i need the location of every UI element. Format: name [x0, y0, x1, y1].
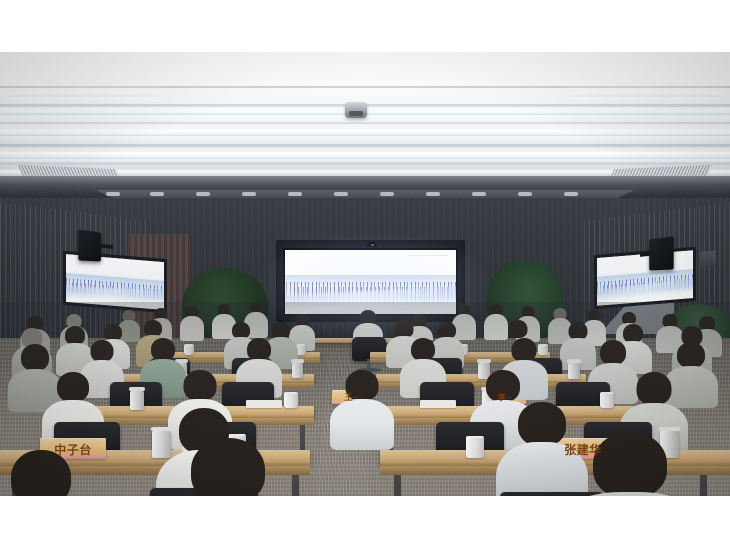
fluorescent-light-tube: [570, 92, 720, 97]
ceiling-downlight: [242, 192, 256, 196]
handout-paper: [420, 400, 456, 408]
conference-camera-icon: [367, 242, 377, 247]
thermos-mug: [568, 362, 580, 379]
ceiling-downlight: [106, 192, 120, 196]
thermos-lid: [129, 387, 145, 391]
thermos-lid: [659, 427, 680, 431]
fluorescent-light-tube: [0, 152, 730, 159]
table-leg: [300, 425, 305, 453]
nameplate-text: 中子台: [54, 441, 92, 458]
cityscape-image: [597, 250, 693, 306]
tea-cup: [600, 392, 614, 408]
conference-room-photo: 王·· 李··: [0, 52, 730, 496]
nameplate-text: 李··: [498, 392, 513, 403]
ceiling-downlight: [150, 192, 164, 196]
person-head: [593, 432, 667, 496]
ceiling-downlight: [564, 192, 578, 196]
thermos-lid: [291, 359, 304, 363]
person-head: [411, 338, 435, 361]
ceiling-downlight: [472, 192, 486, 196]
ceiling-downlight: [380, 192, 394, 196]
person-head: [637, 372, 672, 405]
seated-attendee: [180, 306, 204, 340]
ceiling-downlight: [334, 192, 348, 196]
fluorescent-light-tube: [10, 92, 160, 97]
main-led-wall[interactable]: [283, 248, 458, 316]
seated-attendee: [330, 370, 394, 448]
ceiling-seam: [0, 144, 730, 147]
tea-cup: [466, 436, 484, 458]
ceiling-downlight: [426, 192, 440, 196]
photo-bottom-margin: [0, 496, 730, 548]
person-head: [512, 338, 537, 362]
fluorescent-light-tube: [0, 130, 730, 136]
nameplate-text: 王··: [345, 392, 360, 403]
person-torso: [330, 399, 394, 450]
table-leg: [394, 475, 401, 496]
seated-attendee: [158, 438, 298, 496]
ceiling: [0, 52, 730, 180]
thermos-lid: [567, 359, 581, 363]
ceiling-seam: [0, 122, 730, 124]
handout-paper: [246, 400, 282, 408]
thermos-mug: [292, 362, 303, 378]
person-head: [21, 344, 49, 371]
wall-plaque: [700, 250, 716, 267]
ceiling-seam: [0, 86, 730, 88]
screen-bezel: [283, 248, 458, 316]
ceiling-seam: [0, 162, 730, 165]
nameplate-text: 张建华: [564, 441, 602, 458]
person-head: [151, 338, 175, 361]
person-head: [600, 340, 626, 365]
tea-cup: [284, 392, 298, 408]
cityscape-image: [66, 254, 164, 310]
person-head: [91, 340, 114, 362]
person-head: [518, 402, 566, 446]
ceiling-projector-pod-icon: [345, 102, 367, 118]
ceiling-downlight: [288, 192, 302, 196]
person-head: [191, 438, 265, 496]
screenshot-root: 王·· 李··: [0, 0, 730, 548]
person-head: [57, 372, 89, 402]
person-head: [677, 342, 705, 368]
person-head: [247, 338, 271, 361]
table-leg: [700, 475, 707, 496]
person-head: [184, 370, 217, 401]
thermos-lid: [477, 359, 491, 363]
ceiling-downlight: [518, 192, 532, 196]
ceiling-downlight: [196, 192, 210, 196]
thermos-mug: [130, 390, 144, 410]
